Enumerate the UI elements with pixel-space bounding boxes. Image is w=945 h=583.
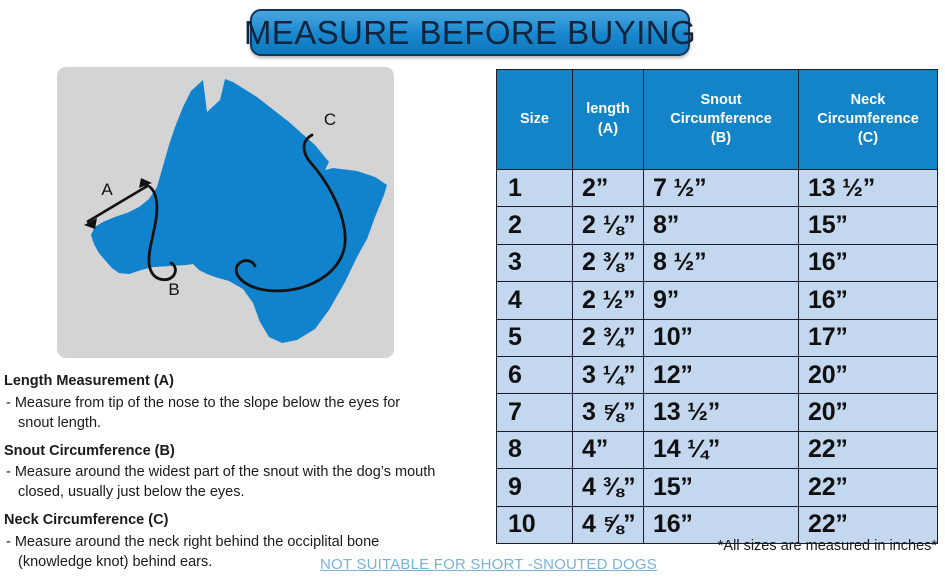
header-line-2: Circumference [799,110,937,129]
cell-length: 2 ½” [573,282,644,319]
cell-neck: 17” [799,319,938,356]
cell-size: 1 [497,170,573,207]
cell-size: 4 [497,282,573,319]
cell-neck: 20” [799,394,938,431]
cell-neck: 22” [799,469,938,506]
header-line-1: Neck [799,91,937,110]
cell-size: 8 [497,431,573,468]
dog-head-silhouette [91,79,387,343]
header-line-3: (B) [644,129,798,148]
header-line-1: Snout [644,91,798,110]
table-row: 2 2 ⅛” 8” 15” [497,207,938,244]
cell-neck: 15” [799,207,938,244]
cell-snout: 15” [644,469,799,506]
cell-snout: 14 ¼” [644,431,799,468]
units-footnote: *All sizes are measured in inches* [718,538,937,554]
cell-snout: 12” [644,356,799,393]
cell-size: 9 [497,469,573,506]
table-row: 9 4 ⅜” 15” 22” [497,469,938,506]
diagram-label-c: C [324,110,336,129]
instruction-line-1: - Measure from tip of the nose to the sl… [6,395,400,411]
table-row: 3 2 ⅜” 8 ½” 16” [497,244,938,281]
cell-length: 3 ¼” [573,356,644,393]
cell-snout: 9” [644,282,799,319]
cell-snout: 7 ½” [644,170,799,207]
cell-length: 4 ⅝” [573,506,644,543]
column-header-neck-circumference: Neck Circumference (C) [799,70,938,170]
header-line-1: length [573,100,643,119]
dog-measurement-diagram: A B C [57,67,394,358]
cell-neck: 13 ½” [799,170,938,207]
cell-snout: 10” [644,319,799,356]
column-header-length: length (A) [573,70,644,170]
not-suitable-note: NOT SUITABLE FOR SHORT -SNOUTED DOGS [320,556,657,573]
cell-size: 7 [497,394,573,431]
instruction-title-neck: Neck Circumference (C) [4,511,490,531]
cell-size: 10 [497,506,573,543]
instruction-body-snout: - Measure around the widest part of the … [4,462,490,502]
cell-size: 5 [497,319,573,356]
measurement-instructions: Length Measurement (A) - Measure from ti… [4,372,490,581]
cell-neck: 20” [799,356,938,393]
cell-length: 2 ¾” [573,319,644,356]
table-row: 8 4” 14 ¼” 22” [497,431,938,468]
table-row: 6 3 ¼” 12” 20” [497,356,938,393]
table-header-row: Size length (A) Snout Circumference (B) … [497,70,938,170]
instruction-block-length: Length Measurement (A) - Measure from ti… [4,372,490,433]
cell-size: 3 [497,244,573,281]
instruction-title-snout: Snout Circumference (B) [4,442,490,462]
cell-length: 2 ⅛” [573,207,644,244]
cell-length: 3 ⅝” [573,394,644,431]
cell-snout: 8 ½” [644,244,799,281]
cell-size: 2 [497,207,573,244]
cell-length: 2 ⅜” [573,244,644,281]
column-header-snout-circumference: Snout Circumference (B) [644,70,799,170]
table-body: 1 2” 7 ½” 13 ½” 2 2 ⅛” 8” 15” 3 2 ⅜” 8 ½… [497,170,938,544]
table-row: 1 2” 7 ½” 13 ½” [497,170,938,207]
cell-neck: 16” [799,282,938,319]
cell-neck: 16” [799,244,938,281]
instruction-title-length: Length Measurement (A) [4,372,490,392]
diagram-label-b: B [168,280,179,299]
cell-length: 4” [573,431,644,468]
instruction-line-2: closed, usually just below the eyes. [6,482,490,502]
page-title: MEASURE BEFORE BUYING [244,16,696,49]
cell-snout: 8” [644,207,799,244]
header-line-1: Size [497,110,572,129]
cell-snout: 13 ½” [644,394,799,431]
table-row: 4 2 ½” 9” 16” [497,282,938,319]
instruction-body-length: - Measure from tip of the nose to the sl… [4,393,490,433]
cell-length: 2” [573,170,644,207]
instruction-line-1: - Measure around the neck right behind t… [6,534,379,550]
cell-size: 6 [497,356,573,393]
title-banner: MEASURE BEFORE BUYING [250,9,690,56]
header-line-2: (A) [573,120,643,139]
size-chart-table: Size length (A) Snout Circumference (B) … [496,69,937,544]
header-line-2: Circumference [644,110,798,129]
instruction-block-snout: Snout Circumference (B) - Measure around… [4,442,490,503]
diagram-label-a: A [101,180,113,199]
table-row: 7 3 ⅝” 13 ½” 20” [497,394,938,431]
header-line-3: (C) [799,129,937,148]
column-header-size: Size [497,70,573,170]
instruction-line-2: snout length. [6,413,490,433]
cell-neck: 22” [799,431,938,468]
table-row: 5 2 ¾” 10” 17” [497,319,938,356]
instruction-line-1: - Measure around the widest part of the … [6,464,435,480]
cell-length: 4 ⅜” [573,469,644,506]
